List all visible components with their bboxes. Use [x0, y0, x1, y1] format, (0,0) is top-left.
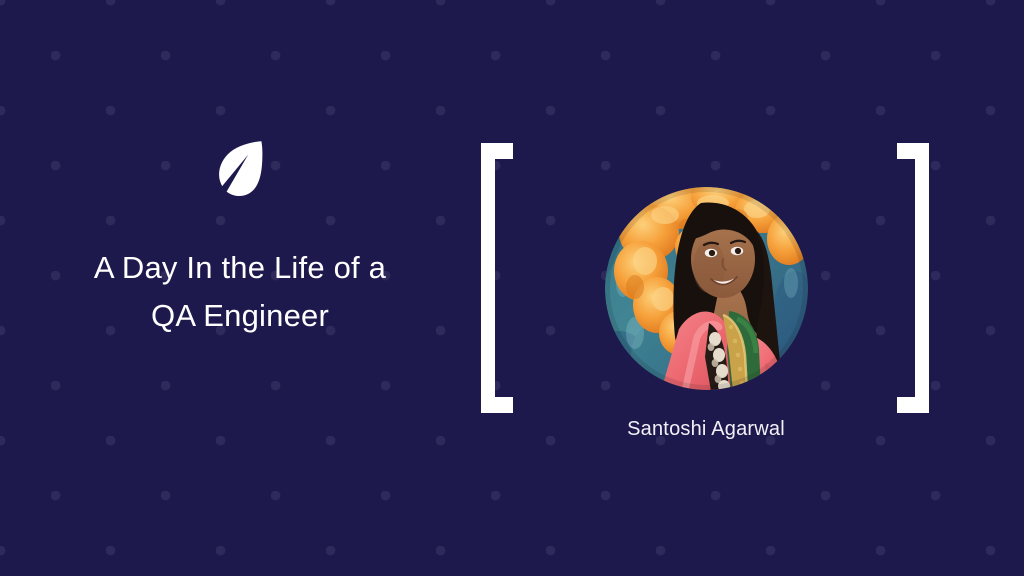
- leaf-icon: [217, 140, 263, 200]
- page-title: A Day In the Life of a QA Engineer: [94, 244, 386, 340]
- bracket-left-decoration: [481, 143, 513, 413]
- speaker-avatar: [605, 187, 808, 390]
- speaker-name: Santoshi Agarwal: [556, 418, 856, 441]
- bracket-right-decoration: [897, 143, 929, 413]
- presentation-slide: A Day In the Life of a QA Engineer: [0, 0, 1024, 576]
- title-block: A Day In the Life of a QA Engineer: [50, 140, 430, 340]
